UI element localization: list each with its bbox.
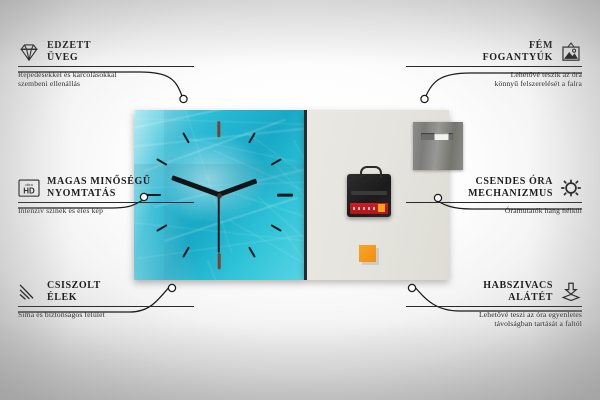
divider: [18, 202, 194, 203]
hanger-slot: [421, 133, 453, 140]
divider: [18, 66, 194, 67]
divider: [406, 66, 582, 67]
endpoint-tempered-glass: [180, 95, 187, 102]
feature-tempered-glass[interactable]: EDZETT ÜVEG Repedésekkel és karcolásokka…: [18, 40, 194, 89]
feature-title: MAGAS MINŐSÉGŰ: [47, 176, 151, 188]
feature-title-2: ÜVEG: [47, 52, 91, 64]
feature-title: EDZETT: [47, 40, 91, 52]
feature-desc: Repedésekkel és karcolásokkal: [18, 70, 194, 79]
feature-metal-handles[interactable]: FÉM FOGANTYÚK Lehetővé teszik az óra kön…: [406, 40, 582, 89]
hour-marker: [218, 121, 221, 137]
feature-high-quality-print[interactable]: ultra HD MAGAS MINŐSÉGŰ NYOMTATÁS Intenz…: [18, 176, 194, 215]
second-hand: [218, 195, 220, 253]
foam-pad-arrow-icon: [560, 282, 582, 302]
feature-title-2: MECHANIZMUS: [468, 188, 553, 200]
feature-desc: Lehetővé teszi az óra egyenletes: [406, 310, 582, 319]
hour-marker: [218, 253, 221, 269]
feature-silent-mechanism[interactable]: CSENDES ÓRA MECHANIZMUS Óramutatók hang …: [406, 176, 582, 215]
svg-text:HD: HD: [23, 186, 35, 195]
hand-cap: [217, 193, 222, 198]
battery: [350, 203, 388, 214]
feature-title: HABSZIVACS: [483, 280, 553, 292]
diamond-icon: [18, 42, 40, 62]
divider: [18, 306, 194, 307]
hanger-loop-icon: [360, 166, 382, 178]
feature-title: CSISZOLT: [47, 280, 101, 292]
feature-title-2: ÉLEK: [47, 292, 101, 304]
feature-title-2: ALÁTÉT: [483, 292, 553, 304]
feature-title: CSENDES ÓRA: [468, 176, 553, 188]
feature-desc: Lehetővé teszik az óra: [406, 70, 582, 79]
endpoint-metal-handles: [421, 95, 428, 102]
gear-icon: [560, 178, 582, 198]
infographic-canvas: EDZETT ÜVEG Repedésekkel és karcolásokka…: [0, 0, 600, 400]
metal-hanger-plate: [413, 122, 463, 170]
feature-desc: Sima és biztonságos felület: [18, 310, 194, 319]
feature-title-2: NYOMTATÁS: [47, 188, 151, 200]
feature-desc-2: könnyű felszerelését a falra: [406, 79, 582, 88]
feature-desc: Óramutatók hang nélkül: [406, 206, 582, 215]
feature-title: FÉM: [483, 40, 553, 52]
feature-foam-pad[interactable]: HABSZIVACS ALÁTÉT Lehetővé teszi az óra …: [406, 280, 582, 329]
mechanism-seam: [351, 191, 387, 195]
feature-title-2: FOGANTYÚK: [483, 52, 553, 64]
ultra-hd-icon: ultra HD: [18, 178, 40, 198]
divider: [406, 202, 582, 203]
picture-frame-hanging-icon: [560, 42, 582, 62]
foam-pad: [359, 245, 376, 262]
feature-desc-2: szembeni ellenállás: [18, 79, 194, 88]
divider: [406, 306, 582, 307]
feature-desc-2: távolságban tartását a faltól: [406, 319, 582, 328]
feature-desc: Intenzív színek és éles kép: [18, 206, 194, 215]
polished-edges-icon: [18, 282, 40, 302]
clock-mechanism: [347, 174, 391, 217]
hour-marker: [277, 194, 293, 197]
feature-polished-edges[interactable]: CSISZOLT ÉLEK Sima és biztonságos felüle…: [18, 280, 194, 319]
